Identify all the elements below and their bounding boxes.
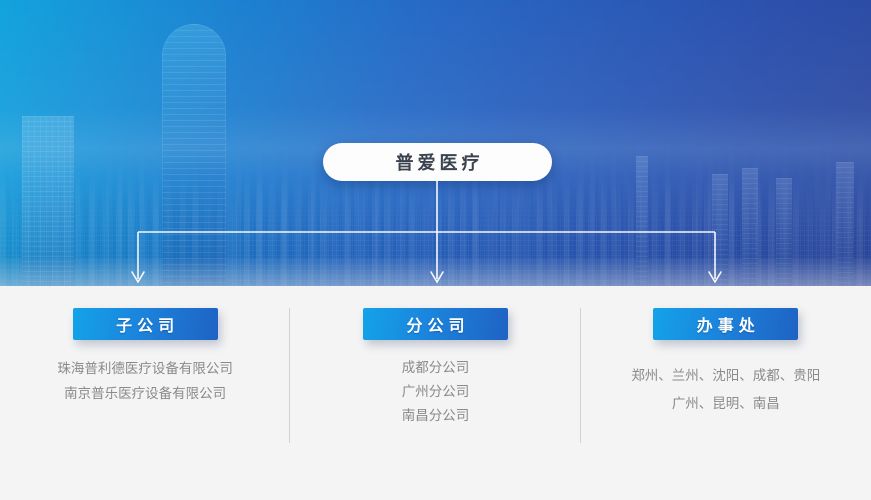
column-offices: 办事处 郑州、兰州、沈阳、成都、贵阳 广州、昆明、南昌 [581,286,871,500]
category-header-label: 办事处 [692,312,760,336]
item-list-subsidiaries: 珠海普利德医疗设备有限公司 南京普乐医疗设备有限公司 [0,356,290,406]
category-header-offices[interactable]: 办事处 [653,308,798,340]
item-list-branches: 成都分公司 广州分公司 南昌分公司 [290,356,580,428]
list-item: 广州分公司 [290,380,580,404]
bottom-fade [0,260,871,286]
list-item: 广州、昆明、南昌 [581,390,871,418]
category-header-label: 分公司 [401,312,469,336]
column-subsidiaries: 子公司 珠海普利德医疗设备有限公司 南京普乐医疗设备有限公司 [0,286,290,500]
category-columns: 子公司 珠海普利德医疗设备有限公司 南京普乐医疗设备有限公司 分公司 成都分公司… [0,286,871,500]
org-chart-panel: 子公司 珠海普利德医疗设备有限公司 南京普乐医疗设备有限公司 分公司 成都分公司… [0,286,871,500]
root-node-company[interactable]: 普爱医疗 [323,143,552,181]
category-header-branches[interactable]: 分公司 [363,308,508,340]
list-item: 南京普乐医疗设备有限公司 [0,381,290,406]
list-item: 南昌分公司 [290,404,580,428]
item-list-offices: 郑州、兰州、沈阳、成都、贵阳 广州、昆明、南昌 [581,362,871,418]
list-item: 成都分公司 [290,356,580,380]
category-header-label: 子公司 [111,312,179,336]
list-item: 珠海普利德医疗设备有限公司 [0,356,290,381]
column-branches: 分公司 成都分公司 广州分公司 南昌分公司 [290,286,580,500]
root-node-label: 普爱医疗 [392,149,484,175]
list-item: 郑州、兰州、沈阳、成都、贵阳 [581,362,871,390]
category-header-subsidiaries[interactable]: 子公司 [73,308,218,340]
